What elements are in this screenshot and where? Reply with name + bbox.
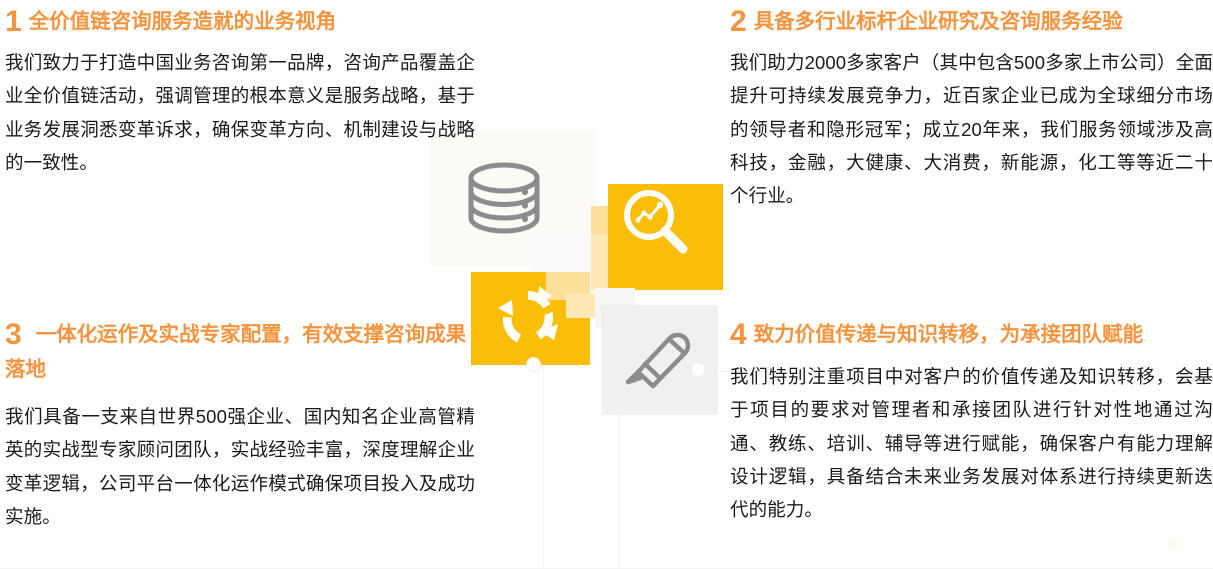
slide-canvas: 1全价值链咨询服务造就的业务视角 我们致力于打造中国业务咨询第一品牌，咨询产品覆… [0, 0, 1213, 569]
section-1-heading-text: 全价值链咨询服务造就的业务视角 [29, 10, 337, 33]
section-4-body: 我们特别注重项目中对客户的价值传递及知识转移，会基于项目的要求对管理者和承接团队… [730, 360, 1213, 526]
section-2-heading: 2具备多行业标杆企业研究及咨询服务经验 [730, 4, 1213, 39]
search-chart-icon [620, 186, 692, 258]
search-tile [608, 184, 723, 290]
pencil-tile [601, 305, 718, 415]
section-4-heading-text: 致力价值传递与知识转移，为承接团队赋能 [754, 323, 1144, 346]
section-3-heading-text: 一体化运作及实战专家配置，有效支撑咨询成果落地 [5, 323, 466, 381]
section-1-number: 1 [5, 5, 22, 38]
recycle-tile-light-2 [566, 293, 630, 318]
connector-line-v1 [618, 371, 619, 568]
recycle-tile [471, 272, 590, 365]
pale-accent-tile-b [595, 288, 635, 328]
section-4-number: 4 [730, 318, 747, 351]
connector-line-h [618, 371, 738, 372]
section-2: 2具备多行业标杆企业研究及咨询服务经验 我们助力2000多家客户（其中包含500… [730, 4, 1213, 212]
section-1-body: 我们致力于打造中国业务咨询第一品牌，咨询产品覆盖企业全价值链活动，强调管理的根本… [5, 46, 475, 179]
corner-mark [1167, 536, 1183, 552]
connector-dot-left [527, 358, 540, 371]
section-1-heading: 1全价值链咨询服务造就的业务视角 [5, 4, 485, 39]
recycle-tile-light [546, 272, 590, 300]
connector-line-v2 [543, 365, 544, 568]
section-3-heading: 3一体化运作及实战专家配置，有效支撑咨询成果落地 [5, 317, 483, 387]
section-4-heading: 4致力价值传递与知识转移，为承接团队赋能 [730, 317, 1213, 352]
section-2-heading-text: 具备多行业标杆企业研究及咨询服务经验 [754, 10, 1123, 33]
section-3-number: 3 [5, 318, 22, 351]
section-2-number: 2 [730, 5, 747, 38]
pencil-icon [620, 320, 700, 390]
pale-accent-tile-a [530, 230, 596, 310]
recycle-icon [494, 283, 562, 351]
search-tile-light [591, 206, 651, 234]
section-3: 3一体化运作及实战专家配置，有效支撑咨询成果落地 我们具备一支来自世界500强企… [5, 317, 485, 533]
section-4: 4致力价值传递与知识转移，为承接团队赋能 我们特别注重项目中对客户的价值传递及知… [730, 317, 1213, 526]
section-2-body: 我们助力2000多家客户（其中包含500多家上市公司）全面提升可持续发展竞争力，… [730, 46, 1213, 212]
search-tile-light-2 [591, 234, 626, 290]
connector-dot-right [692, 363, 705, 376]
section-3-body: 我们具备一支来自世界500强企业、国内知名企业高管精英的实战型专家顾问团队，实战… [5, 400, 475, 533]
section-1: 1全价值链咨询服务造就的业务视角 我们致力于打造中国业务咨询第一品牌，咨询产品覆… [5, 4, 485, 179]
